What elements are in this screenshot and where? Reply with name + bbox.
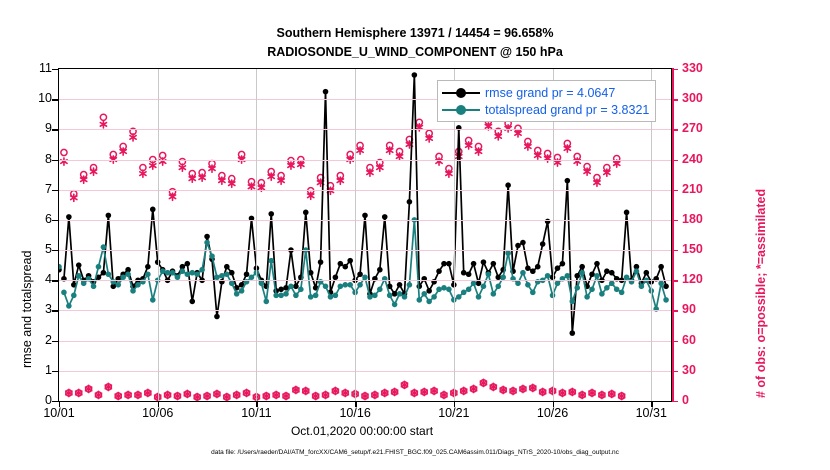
right-axis-tick-label: 270 xyxy=(682,121,742,135)
right-axis-tick-label: 240 xyxy=(682,152,742,166)
legend-label: totalspread grand pr = 3.8321 xyxy=(485,103,649,117)
right-axis-label: # of obs: o=possible; *=assimilated xyxy=(754,189,768,398)
left-axis-tick-label: 3 xyxy=(0,302,52,316)
right-axis-tick-label: 300 xyxy=(682,91,742,105)
right-axis-tick-label: 0 xyxy=(682,393,742,407)
legend-marker-dot-icon xyxy=(456,105,466,115)
x-axis-tick-label: 10/06 xyxy=(128,406,188,420)
legend-label: rmse grand pr = 4.0647 xyxy=(485,86,615,100)
left-axis-tick-label: 7 xyxy=(0,182,52,196)
title-line-1: Southern Hemisphere 13971 / 14454 = 96.6… xyxy=(0,24,830,43)
data-file-path: data file: /Users/raeder/DAI/ATM_forcXX/… xyxy=(0,449,830,456)
x-axis-tick-mark xyxy=(553,402,554,407)
x-axis-label: Oct.01,2020 00:00:00 start xyxy=(0,424,724,438)
x-axis-tick-label: 10/21 xyxy=(424,406,484,420)
vertical-gridline xyxy=(158,69,159,401)
chart-legend[interactable]: rmse grand pr = 4.0647totalspread grand … xyxy=(437,80,656,122)
plot-page: Southern Hemisphere 13971 / 14454 = 96.6… xyxy=(0,0,830,470)
x-axis-tick-label: 10/01 xyxy=(29,406,89,420)
horizontal-gridline xyxy=(59,310,671,311)
right-axis-spine xyxy=(672,68,674,402)
right-axis-label-wrap: # of obs: o=possible; *=assimilated xyxy=(740,68,760,402)
x-axis-tick-label: 10/11 xyxy=(226,406,286,420)
right-axis-tick-label: 120 xyxy=(682,272,742,286)
left-axis-tick-label: 8 xyxy=(0,152,52,166)
left-axis-tick-label: 0 xyxy=(0,393,52,407)
right-axis-tick-label: 150 xyxy=(682,242,742,256)
right-axis-tick-label: 30 xyxy=(682,363,742,377)
x-axis-tick-mark xyxy=(158,402,159,407)
left-axis-tick-label: 5 xyxy=(0,242,52,256)
legend-line-swatch xyxy=(442,92,480,94)
right-axis-tick-label: 330 xyxy=(682,61,742,75)
horizontal-gridline xyxy=(59,129,671,130)
legend-marker-dot-icon xyxy=(456,88,466,98)
right-axis-tick-label: 210 xyxy=(682,182,742,196)
right-axis-tick-label: 90 xyxy=(682,302,742,316)
horizontal-gridline xyxy=(59,371,671,372)
vertical-gridline xyxy=(355,69,356,401)
x-axis-tick-label: 10/26 xyxy=(523,406,583,420)
right-axis-tick-label: 180 xyxy=(682,212,742,226)
title-line-2: RADIOSONDE_U_WIND_COMPONENT @ 150 hPa xyxy=(0,43,830,62)
left-axis-tick-label: 9 xyxy=(0,121,52,135)
x-axis-tick-label: 10/31 xyxy=(621,406,681,420)
left-axis-tick-label: 2 xyxy=(0,333,52,347)
horizontal-gridline xyxy=(59,220,671,221)
left-axis-tick-label: 6 xyxy=(0,212,52,226)
horizontal-gridline xyxy=(59,160,671,161)
x-axis-tick-mark xyxy=(59,402,60,407)
left-axis-tick-label: 1 xyxy=(0,363,52,377)
left-axis-label-wrap: rmse and totalspread xyxy=(4,68,24,402)
page-title: Southern Hemisphere 13971 / 14454 = 96.6… xyxy=(0,24,830,62)
left-axis-tick-label: 11 xyxy=(0,61,52,75)
legend-item-totalspread[interactable]: totalspread grand pr = 3.8321 xyxy=(442,101,649,118)
x-axis-tick-label: 10/16 xyxy=(325,406,385,420)
left-axis-tick-label: 4 xyxy=(0,272,52,286)
legend-line-swatch xyxy=(442,109,480,111)
vertical-gridline xyxy=(256,69,257,401)
x-axis-tick-mark xyxy=(355,402,356,407)
x-axis-tick-mark xyxy=(454,402,455,407)
left-axis-tick-label: 10 xyxy=(0,91,52,105)
legend-item-rmse[interactable]: rmse grand pr = 4.0647 xyxy=(442,84,649,101)
x-axis-tick-mark xyxy=(256,402,257,407)
horizontal-gridline xyxy=(59,280,671,281)
horizontal-gridline xyxy=(59,250,671,251)
horizontal-gridline xyxy=(59,190,671,191)
right-axis-tick-label: 60 xyxy=(682,333,742,347)
horizontal-gridline xyxy=(59,341,671,342)
x-axis-tick-mark xyxy=(651,402,652,407)
